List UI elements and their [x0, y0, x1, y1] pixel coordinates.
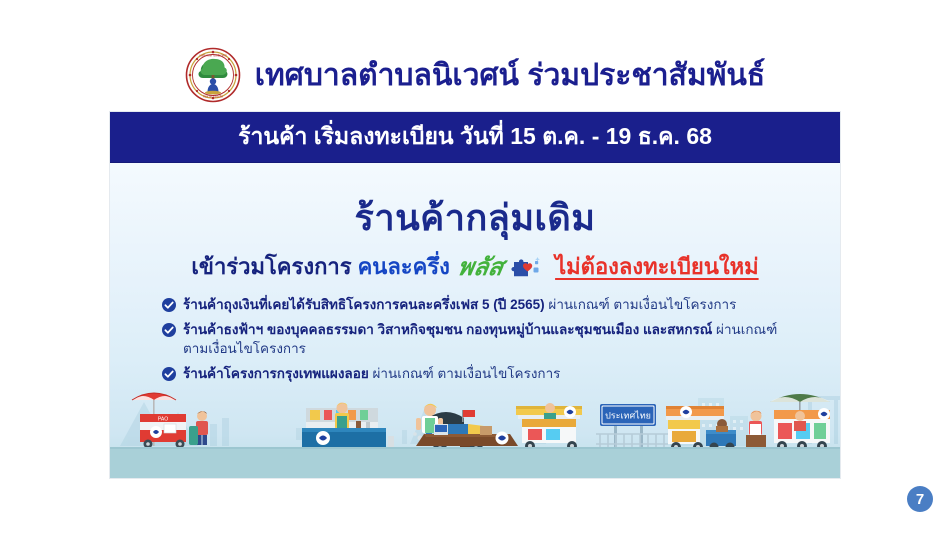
card-body: ร้านค้ากลุ่มเดิม เข้าร่วมโครงการ คนละครึ…	[110, 163, 840, 478]
program-name: คนละครึ่ง	[358, 249, 450, 284]
bullet-sub-text: ผ่านเกณฑ์ ตามเงื่อนไขโครงการ	[548, 297, 736, 312]
card-headline: ร้านค้ากลุ่มเดิม	[110, 189, 840, 246]
street-vendor-carts-illustration: PAO	[110, 368, 840, 478]
subline-highlight: ไม่ต้องลงทะเบียนใหม่	[555, 249, 759, 284]
page-title: เทศบาลตำบลนิเวศน์ ร่วมประชาสัมพันธ์	[255, 59, 765, 92]
check-circle-icon	[162, 323, 176, 337]
card-banner: ร้านค้า เริ่มลงทะเบียน วันที่ 15 ต.ค. - …	[110, 112, 840, 163]
bullet-main-text: ร้านค้าธงฟ้าฯ ของบุคคลธรรมดา วิสาหกิจชุม…	[183, 322, 712, 337]
svg-text:PAO: PAO	[158, 417, 168, 423]
subline-prefix: เข้าร่วมโครงการ	[191, 249, 351, 284]
announcement-card: ร้านค้า เริ่มลงทะเบียน วันที่ 15 ต.ค. - …	[110, 112, 840, 478]
municipality-seal-icon: เทศบาลตำบลนิเวศน์ จังหวัด ร้อยเอ็ด	[185, 47, 241, 103]
slide-header: เทศบาลตำบลนิเวศน์ จังหวัด ร้อยเอ็ด เทศบา…	[0, 42, 950, 108]
illustration-sign-label: ประเทศไทย	[605, 411, 651, 421]
bullet-main-text: ร้านค้าถุงเงินที่เคยได้รับสิทธิโครงการคน…	[183, 297, 545, 312]
list-item: ร้านค้าธงฟ้าฯ ของบุคคลธรรมดา วิสาหกิจชุม…	[162, 320, 802, 358]
program-plus-label: พลัส	[454, 247, 506, 286]
banner-text: ร้านค้า เริ่มลงทะเบียน วันที่ 15 ต.ค. - …	[238, 119, 712, 155]
puzzle-heart-icon	[511, 255, 541, 279]
card-subline: เข้าร่วมโครงการ คนละครึ่ง พลัส ไม่ต้องลง…	[110, 247, 840, 286]
list-item: ร้านค้าถุงเงินที่เคยได้รับสิทธิโครงการคน…	[162, 295, 802, 314]
page-number-badge: 7	[907, 486, 933, 512]
svg-text:เทศบาลตำบลนิเวศน์: เทศบาลตำบลนิเวศน์	[199, 54, 227, 58]
check-circle-icon	[162, 298, 176, 312]
